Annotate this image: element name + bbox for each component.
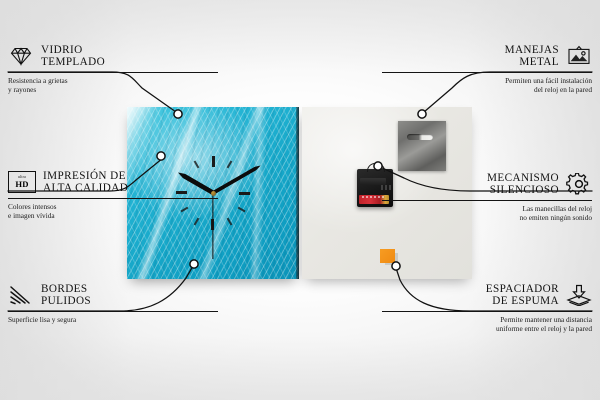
feature-tempered-glass: VIDRIO TEMPLADO Resistencia a grietas y … bbox=[8, 44, 218, 94]
hanger-slot bbox=[407, 134, 433, 140]
badge-big-text: HD bbox=[15, 180, 28, 189]
metal-hanger-plate bbox=[398, 121, 446, 171]
feature-foam-spacer: ESPACIADOR DE ESPUMA Permite mantener un… bbox=[382, 283, 592, 333]
feature-rule bbox=[8, 72, 218, 73]
gear-icon bbox=[566, 173, 592, 195]
panel-edge bbox=[296, 107, 299, 279]
feature-rule bbox=[8, 311, 218, 312]
picture-frame-hook-icon bbox=[566, 45, 592, 67]
feature-title: MECANISMO SILENCIOSO bbox=[487, 172, 559, 197]
feature-title: IMPRESIÓN DE ALTA CALIDAD bbox=[43, 170, 128, 195]
feature-metal-handles: MANEJAS METAL Permiten una fácil instala… bbox=[382, 44, 592, 94]
feature-desc: Permiten una fácil instalación del reloj… bbox=[382, 76, 592, 94]
infographic-canvas: VIDRIO TEMPLADO Resistencia a grietas y … bbox=[0, 0, 600, 400]
feature-desc: Las manecillas del reloj no emiten ningú… bbox=[382, 204, 592, 222]
ultra-hd-badge-icon: ultra HD bbox=[8, 171, 36, 193]
foam-spacer bbox=[380, 249, 395, 263]
feature-hd-print: ultra HD IMPRESIÓN DE ALTA CALIDAD Color… bbox=[8, 170, 218, 220]
feature-title: VIDRIO TEMPLADO bbox=[41, 44, 105, 69]
feature-rule bbox=[382, 72, 592, 73]
feature-title: MANEJAS METAL bbox=[505, 44, 559, 69]
feature-polished-edges: BORDES PULIDOS Superficie lisa y segura bbox=[8, 283, 218, 324]
feature-title: ESPACIADOR DE ESPUMA bbox=[486, 283, 559, 308]
feature-rule bbox=[8, 198, 218, 199]
mechanism-loop bbox=[367, 163, 385, 172]
feature-rule bbox=[382, 311, 592, 312]
feature-desc: Superficie lisa y segura bbox=[8, 315, 218, 324]
feature-rule bbox=[382, 200, 592, 201]
diagonal-lines-icon bbox=[8, 284, 34, 306]
diamond-icon bbox=[8, 45, 34, 67]
feature-desc: Resistencia a grietas y rayones bbox=[8, 76, 218, 94]
feature-title: BORDES PULIDOS bbox=[41, 283, 91, 308]
arrow-down-layers-icon bbox=[566, 284, 592, 306]
feature-desc: Colores intensos e imagen vívida bbox=[8, 202, 218, 220]
feature-silent-mechanism: MECANISMO SILENCIOSO Las manecillas del … bbox=[382, 172, 592, 222]
feature-desc: Permite mantener una distancia uniforme … bbox=[382, 315, 592, 333]
